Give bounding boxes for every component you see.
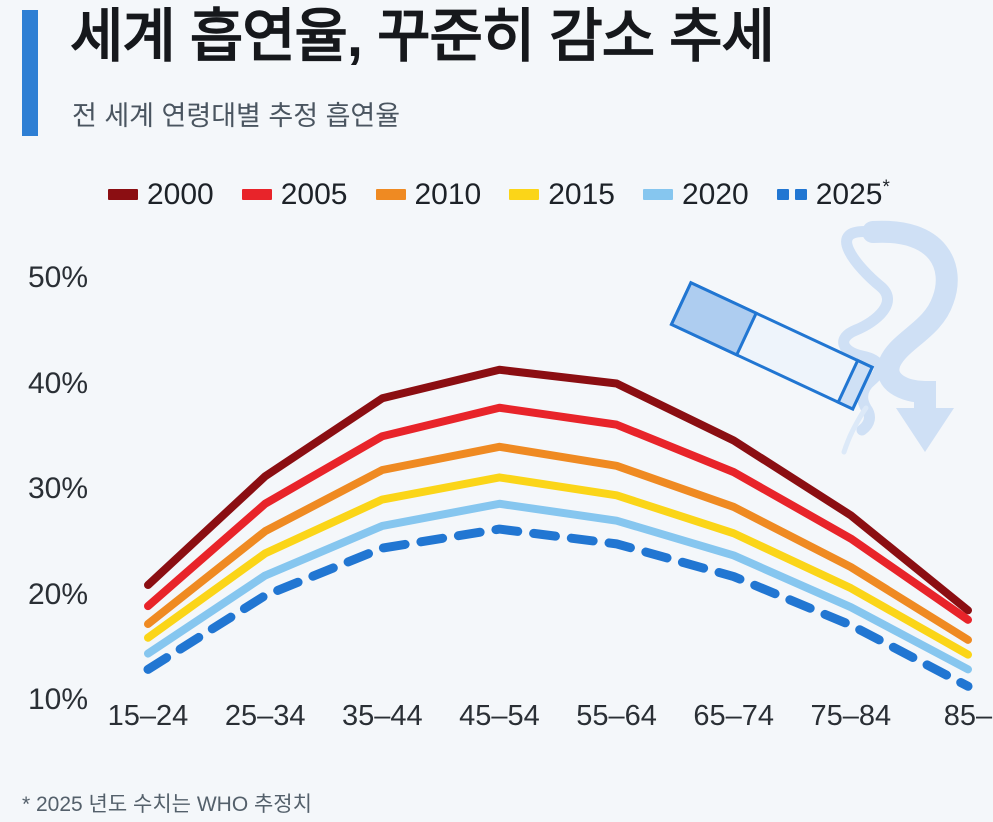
- x-axis-tick-label: 55–64: [576, 700, 657, 733]
- x-axis-tick-label: 85–: [944, 700, 992, 733]
- legend-label: 2015: [548, 178, 615, 212]
- legend-label: 2020: [682, 178, 749, 212]
- page-title: 세계 흡연율, 꾸준히 감소 추세: [70, 4, 774, 71]
- legend-item-2020[interactable]: 2020: [643, 178, 749, 212]
- legend-item-2000[interactable]: 2000: [108, 178, 214, 212]
- series-line-2015: [148, 477, 968, 654]
- x-axis-tick-label: 25–34: [225, 700, 306, 733]
- series-line-2005: [148, 408, 968, 620]
- legend-swatch-icon: [643, 189, 673, 200]
- legend-label: 2005: [281, 178, 348, 212]
- y-axis-tick-label: 20%: [28, 578, 88, 612]
- series-line-2020: [148, 504, 968, 670]
- legend-label: 2000: [147, 178, 214, 212]
- legend-swatch-icon: [777, 189, 807, 200]
- series-line-2010: [148, 447, 968, 640]
- legend-item-2010[interactable]: 2010: [376, 178, 482, 212]
- x-axis-tick-label: 75–84: [811, 700, 892, 733]
- y-axis-tick-label: 40%: [28, 367, 88, 401]
- y-axis-tick-label: 50%: [28, 261, 88, 295]
- legend-swatch-icon: [108, 189, 138, 200]
- legend-item-2025[interactable]: 2025*: [777, 177, 890, 212]
- legend-label: 2010: [415, 178, 482, 212]
- x-axis-tick-label: 45–54: [459, 700, 540, 733]
- x-axis-tick-label: 35–44: [342, 700, 423, 733]
- legend-swatch-icon: [376, 189, 406, 200]
- x-axis-tick-label: 15–24: [108, 700, 189, 733]
- smoke-curl-icon: [844, 231, 888, 452]
- legend-swatch-icon: [509, 189, 539, 200]
- legend-swatch-icon: [242, 189, 272, 200]
- legend-item-2015[interactable]: 2015: [509, 178, 615, 212]
- series-line-2000: [148, 370, 968, 611]
- chart-footnote: * 2025 년도 수치는 WHO 추정치: [22, 788, 312, 818]
- chart-legend: 200020052010201520202025*: [108, 177, 890, 212]
- y-axis-tick-label: 30%: [28, 472, 88, 506]
- series-line-2025: [148, 529, 968, 686]
- y-axis-tick-label: 10%: [28, 683, 88, 717]
- page-subtitle: 전 세계 연령대별 추정 흡연율: [72, 94, 400, 133]
- x-axis-tick-label: 65–74: [693, 700, 774, 733]
- legend-label: 2025*: [816, 177, 890, 212]
- infographic-page: 세계 흡연율, 꾸준히 감소 추세 전 세계 연령대별 추정 흡연율 20002…: [0, 0, 993, 822]
- accent-bar: [22, 10, 38, 136]
- cigarette-illustration: [671, 283, 872, 409]
- legend-item-2005[interactable]: 2005: [242, 178, 348, 212]
- downward-trend-arrow: [873, 232, 954, 452]
- chart-header: 세계 흡연율, 꾸준히 감소 추세 전 세계 연령대별 추정 흡연율: [22, 8, 993, 138]
